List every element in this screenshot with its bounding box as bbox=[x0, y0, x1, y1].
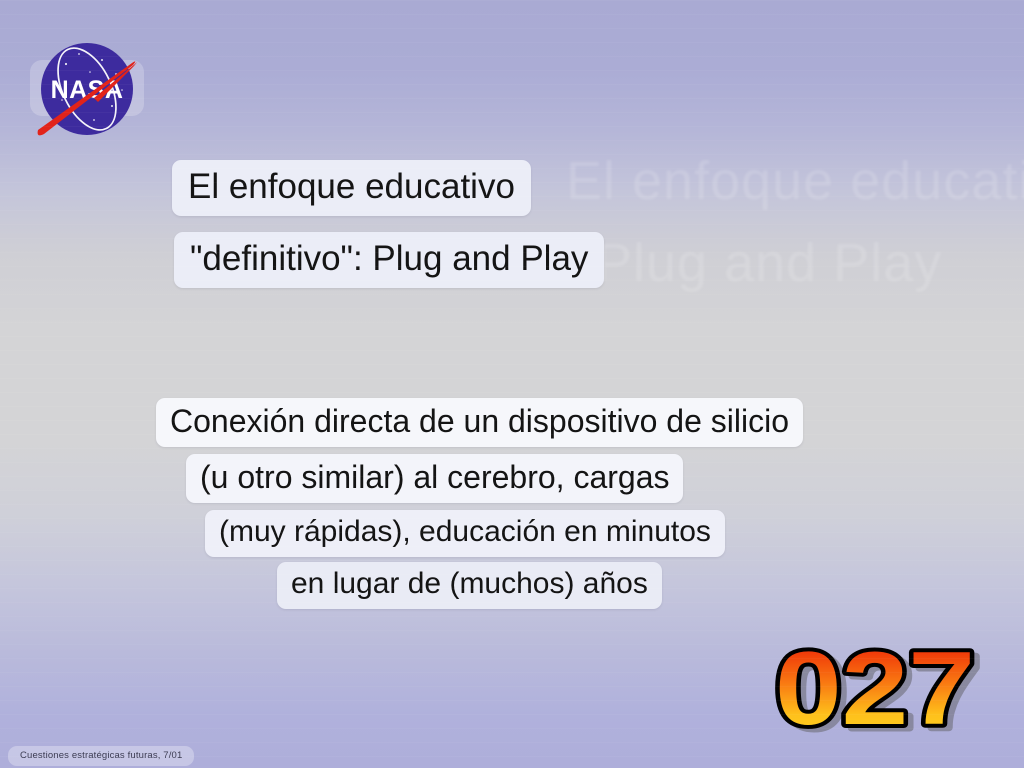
background-ghost-text-2: Plug and Play bbox=[596, 232, 942, 294]
slide-body-line-2: (u otro similar) al cerebro, cargas bbox=[186, 454, 683, 503]
slide-body-line-3: (muy rápidas), educación en minutos bbox=[205, 510, 725, 557]
slide-number-text: 027 bbox=[775, 640, 975, 746]
slide-number-shadow: 027 bbox=[781, 640, 980, 746]
background-ghost-text-1: El enfoque educativo bbox=[566, 150, 1024, 212]
footer-caption: Cuestiones estratégicas futuras, 7/01 bbox=[8, 746, 194, 766]
nasa-meatball-logo: NASA bbox=[32, 34, 142, 144]
slide-body-line-1: Conexión directa de un dispositivo de si… bbox=[156, 398, 803, 447]
slide-body-line-4: en lugar de (muchos) años bbox=[277, 562, 662, 609]
slide-canvas: El enfoque educativo Plug and Play bbox=[0, 0, 1024, 768]
slide-number: 027 027 bbox=[770, 640, 980, 746]
slide-title-line-2: "definitivo": Plug and Play bbox=[174, 232, 604, 288]
slide-title-line-1: El enfoque educativo bbox=[172, 160, 531, 216]
nasa-logo-graphic: NASA bbox=[32, 34, 142, 144]
slide-number-graphic: 027 027 bbox=[770, 640, 980, 746]
